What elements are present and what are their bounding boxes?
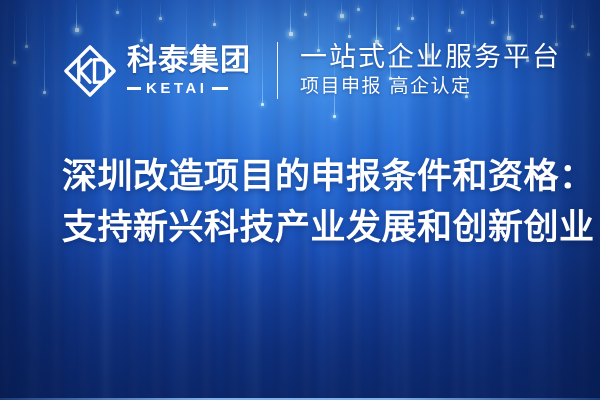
ketai-diamond-kd-logo-icon bbox=[62, 43, 118, 99]
brand-wordmark: 科泰集团 KETAI bbox=[127, 46, 251, 96]
brand-name-en-row: KETAI bbox=[127, 81, 251, 96]
brand-logo[interactable]: 科泰集团 KETAI bbox=[62, 43, 251, 99]
brand-name-en: KETAI bbox=[146, 81, 207, 96]
tagline-secondary: 项目申报 高企认定 bbox=[300, 76, 561, 97]
banner-header: 科泰集团 KETAI 一站式企业服务平台 项目申报 高企认定 bbox=[62, 42, 561, 99]
headline-line-2: 支持新兴科技产业发展和创新创业 bbox=[62, 203, 552, 254]
brand-name-cn: 科泰集团 bbox=[127, 46, 251, 76]
wordmark-rule-left bbox=[127, 87, 141, 90]
tagline-primary: 一站式企业服务平台 bbox=[300, 44, 561, 72]
header-divider bbox=[277, 42, 278, 99]
headline-line-1: 深圳改造项目的申报条件和资格： bbox=[62, 152, 552, 203]
tagline-block: 一站式企业服务平台 项目申报 高企认定 bbox=[300, 44, 561, 97]
wordmark-rule-right bbox=[212, 87, 228, 90]
page-title: 深圳改造项目的申报条件和资格： 支持新兴科技产业发展和创新创业 bbox=[62, 152, 552, 255]
promo-banner: 科泰集团 KETAI 一站式企业服务平台 项目申报 高企认定 深圳改造项目的申报… bbox=[0, 0, 600, 400]
